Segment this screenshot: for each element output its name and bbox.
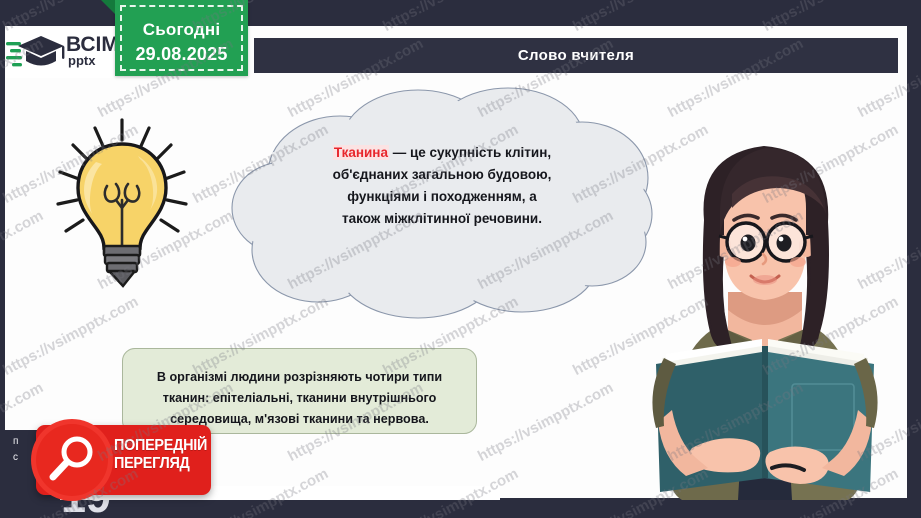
slide-header-bar: Слово вчителя [254, 38, 898, 73]
date-tag-date: 29.08.2025 [115, 44, 248, 65]
info-line-1: В організмі людини розрізняють чотири ти… [128, 367, 471, 388]
slide-viewer: Тканина — це сукупність клітин, об'єднан… [0, 0, 921, 518]
logo-brand-text: ВСІМ [66, 34, 119, 55]
speech-bubble-text: Тканина — це сукупність клітин, об'єднан… [252, 142, 632, 229]
info-line-2: тканин: епітеліальні, тканини внутрішньо… [128, 388, 471, 409]
preview-badge-circle [31, 419, 113, 501]
date-tag: Сьогодні 29.08.2025 [115, 0, 248, 76]
magnifier-icon [45, 433, 99, 487]
date-tag-label: Сьогодні [115, 20, 248, 40]
brand-logo[interactable]: ВСІМ pptx [6, 28, 124, 78]
preview-badge[interactable]: ПОПЕРЕДНІЙ ПЕРЕГЛЯД [36, 425, 211, 495]
info-box-text: В організмі людини розрізняють чотири ти… [128, 367, 471, 430]
speech-line-2: об'єднаних загальною будовою, [252, 164, 632, 186]
teacher-with-book-illustration [620, 96, 910, 500]
speech-line-4: також міжклітинної речовини. [252, 208, 632, 230]
term-highlight: Тканина [333, 145, 389, 160]
preview-badge-line-1: ПОПЕРЕДНІЙ [114, 437, 203, 455]
preview-badge-label: ПОПЕРЕДНІЙ ПЕРЕГЛЯД [114, 437, 203, 472]
speech-line-3: функціями і походженням, а [252, 186, 632, 208]
date-tag-fold [101, 0, 115, 14]
logo-sub-text: pptx [68, 54, 95, 67]
lightbulb-icon [52, 112, 192, 292]
graduation-cap-icon [6, 28, 66, 74]
speech-line-1-rest: — це сукупність клітин, [389, 145, 551, 160]
preview-badge-line-2: ПЕРЕГЛЯД [114, 455, 203, 473]
page-title: Слово вчителя [518, 47, 634, 64]
